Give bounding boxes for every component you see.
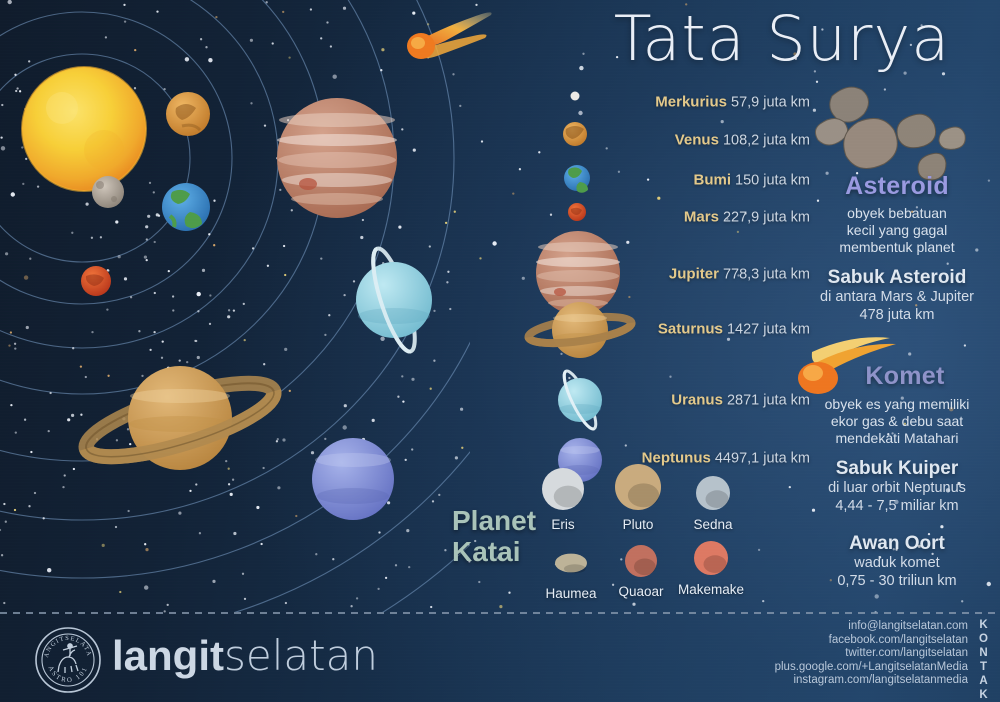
kontak-letter: K <box>976 618 992 632</box>
contact-list: info@langitselatan.comfacebook.com/langi… <box>738 620 968 688</box>
kontak-letter: O <box>976 632 992 646</box>
contact-line[interactable]: info@langitselatan.com <box>738 620 968 634</box>
kontak-letter: T <box>976 660 992 674</box>
contact-line[interactable]: instagram.com/langitselatanmedia <box>738 674 968 688</box>
contact-line[interactable]: plus.google.com/+LangitselatanMedia <box>738 661 968 675</box>
contact-line[interactable]: facebook.com/langitselatan <box>738 634 968 648</box>
brand-wordmark: langitselatan <box>112 632 378 680</box>
brand-logo-seal: LANGITSELATAN ASTRO 101 <box>0 0 1000 702</box>
infographic-poster: Tata Surya Merkurius 57,9 juta kmVenus 1… <box>0 0 1000 702</box>
brand-bold: langit <box>112 632 224 679</box>
kontak-letter: A <box>976 674 992 688</box>
contact-line[interactable]: twitter.com/langitselatan <box>738 647 968 661</box>
kontak-letter: N <box>976 646 992 660</box>
brand-thin: selatan <box>224 631 378 680</box>
kontak-vertical-label: KONTAK <box>976 618 992 702</box>
kontak-letter: K <box>976 688 992 702</box>
